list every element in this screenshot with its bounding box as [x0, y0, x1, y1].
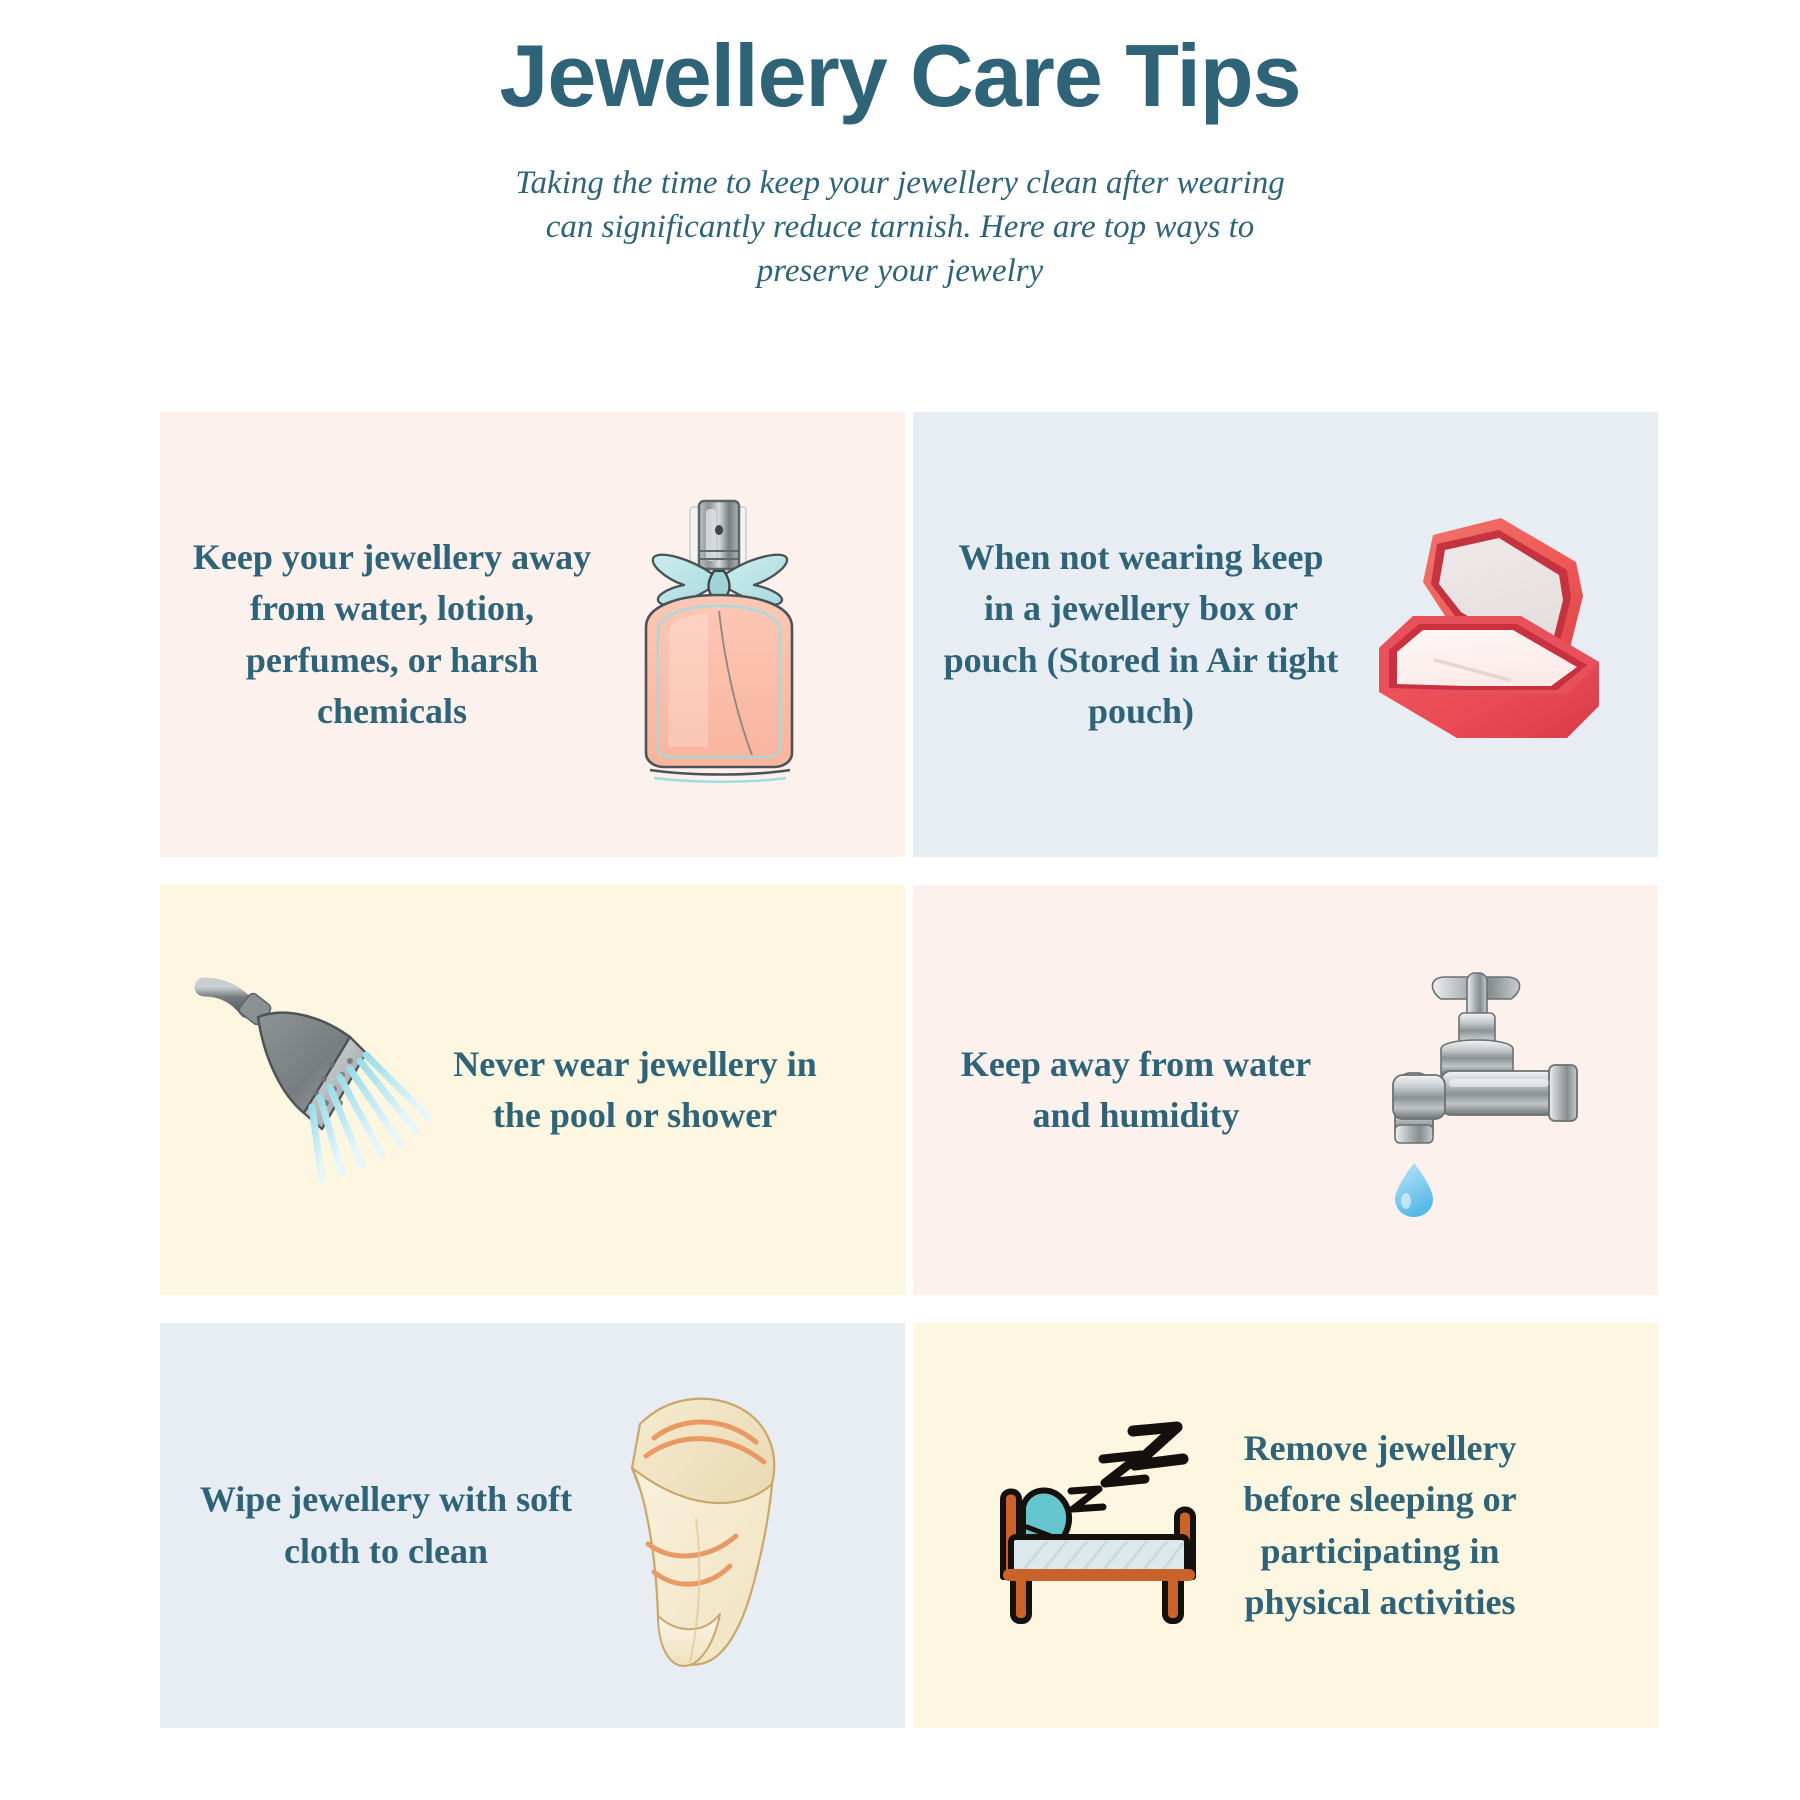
- header: Jewellery Care Tips Taking the time to k…: [0, 0, 1800, 294]
- tip-card-wipe-cloth-text: Wipe jewellery with soft cloth to clean: [160, 1474, 586, 1576]
- tip-card-storage: When not wearing keep in a jewellery box…: [913, 412, 1658, 857]
- tip-card-pool-shower-text: Never wear jewellery in the pool or show…: [440, 1039, 820, 1141]
- faucet-icon: [1371, 965, 1601, 1215]
- page-subtitle: Taking the time to keep your jewellery c…: [500, 162, 1300, 294]
- tip-card-sleeping: Remove jewellery before sleeping or part…: [913, 1323, 1658, 1728]
- perfume-bottle-icon: [602, 485, 832, 785]
- ring-box-icon: [1371, 510, 1621, 760]
- bed-sleeping-icon: [965, 1421, 1215, 1631]
- tips-grid: Keep your jewellery away from water, lot…: [160, 412, 1650, 1728]
- tip-card-sleeping-text: Remove jewellery before sleeping or part…: [1215, 1423, 1563, 1627]
- polishing-cloth-icon: [596, 1376, 826, 1676]
- tip-card-humidity: Keep away from water and humidity: [913, 885, 1658, 1295]
- tip-card-chemicals-text: Keep your jewellery away from water, lot…: [160, 532, 602, 736]
- tip-card-wipe-cloth: Wipe jewellery with soft cloth to clean: [160, 1323, 905, 1728]
- tip-card-humidity-text: Keep away from water and humidity: [913, 1039, 1331, 1141]
- tip-card-pool-shower: Never wear jewellery in the pool or show…: [160, 885, 905, 1295]
- tip-card-storage-text: When not wearing keep in a jewellery box…: [913, 532, 1341, 736]
- infographic-page: Jewellery Care Tips Taking the time to k…: [0, 0, 1800, 1800]
- page-title: Jewellery Care Tips: [0, 30, 1800, 122]
- shower-head-icon: [200, 965, 440, 1215]
- tip-card-chemicals: Keep your jewellery away from water, lot…: [160, 412, 905, 857]
